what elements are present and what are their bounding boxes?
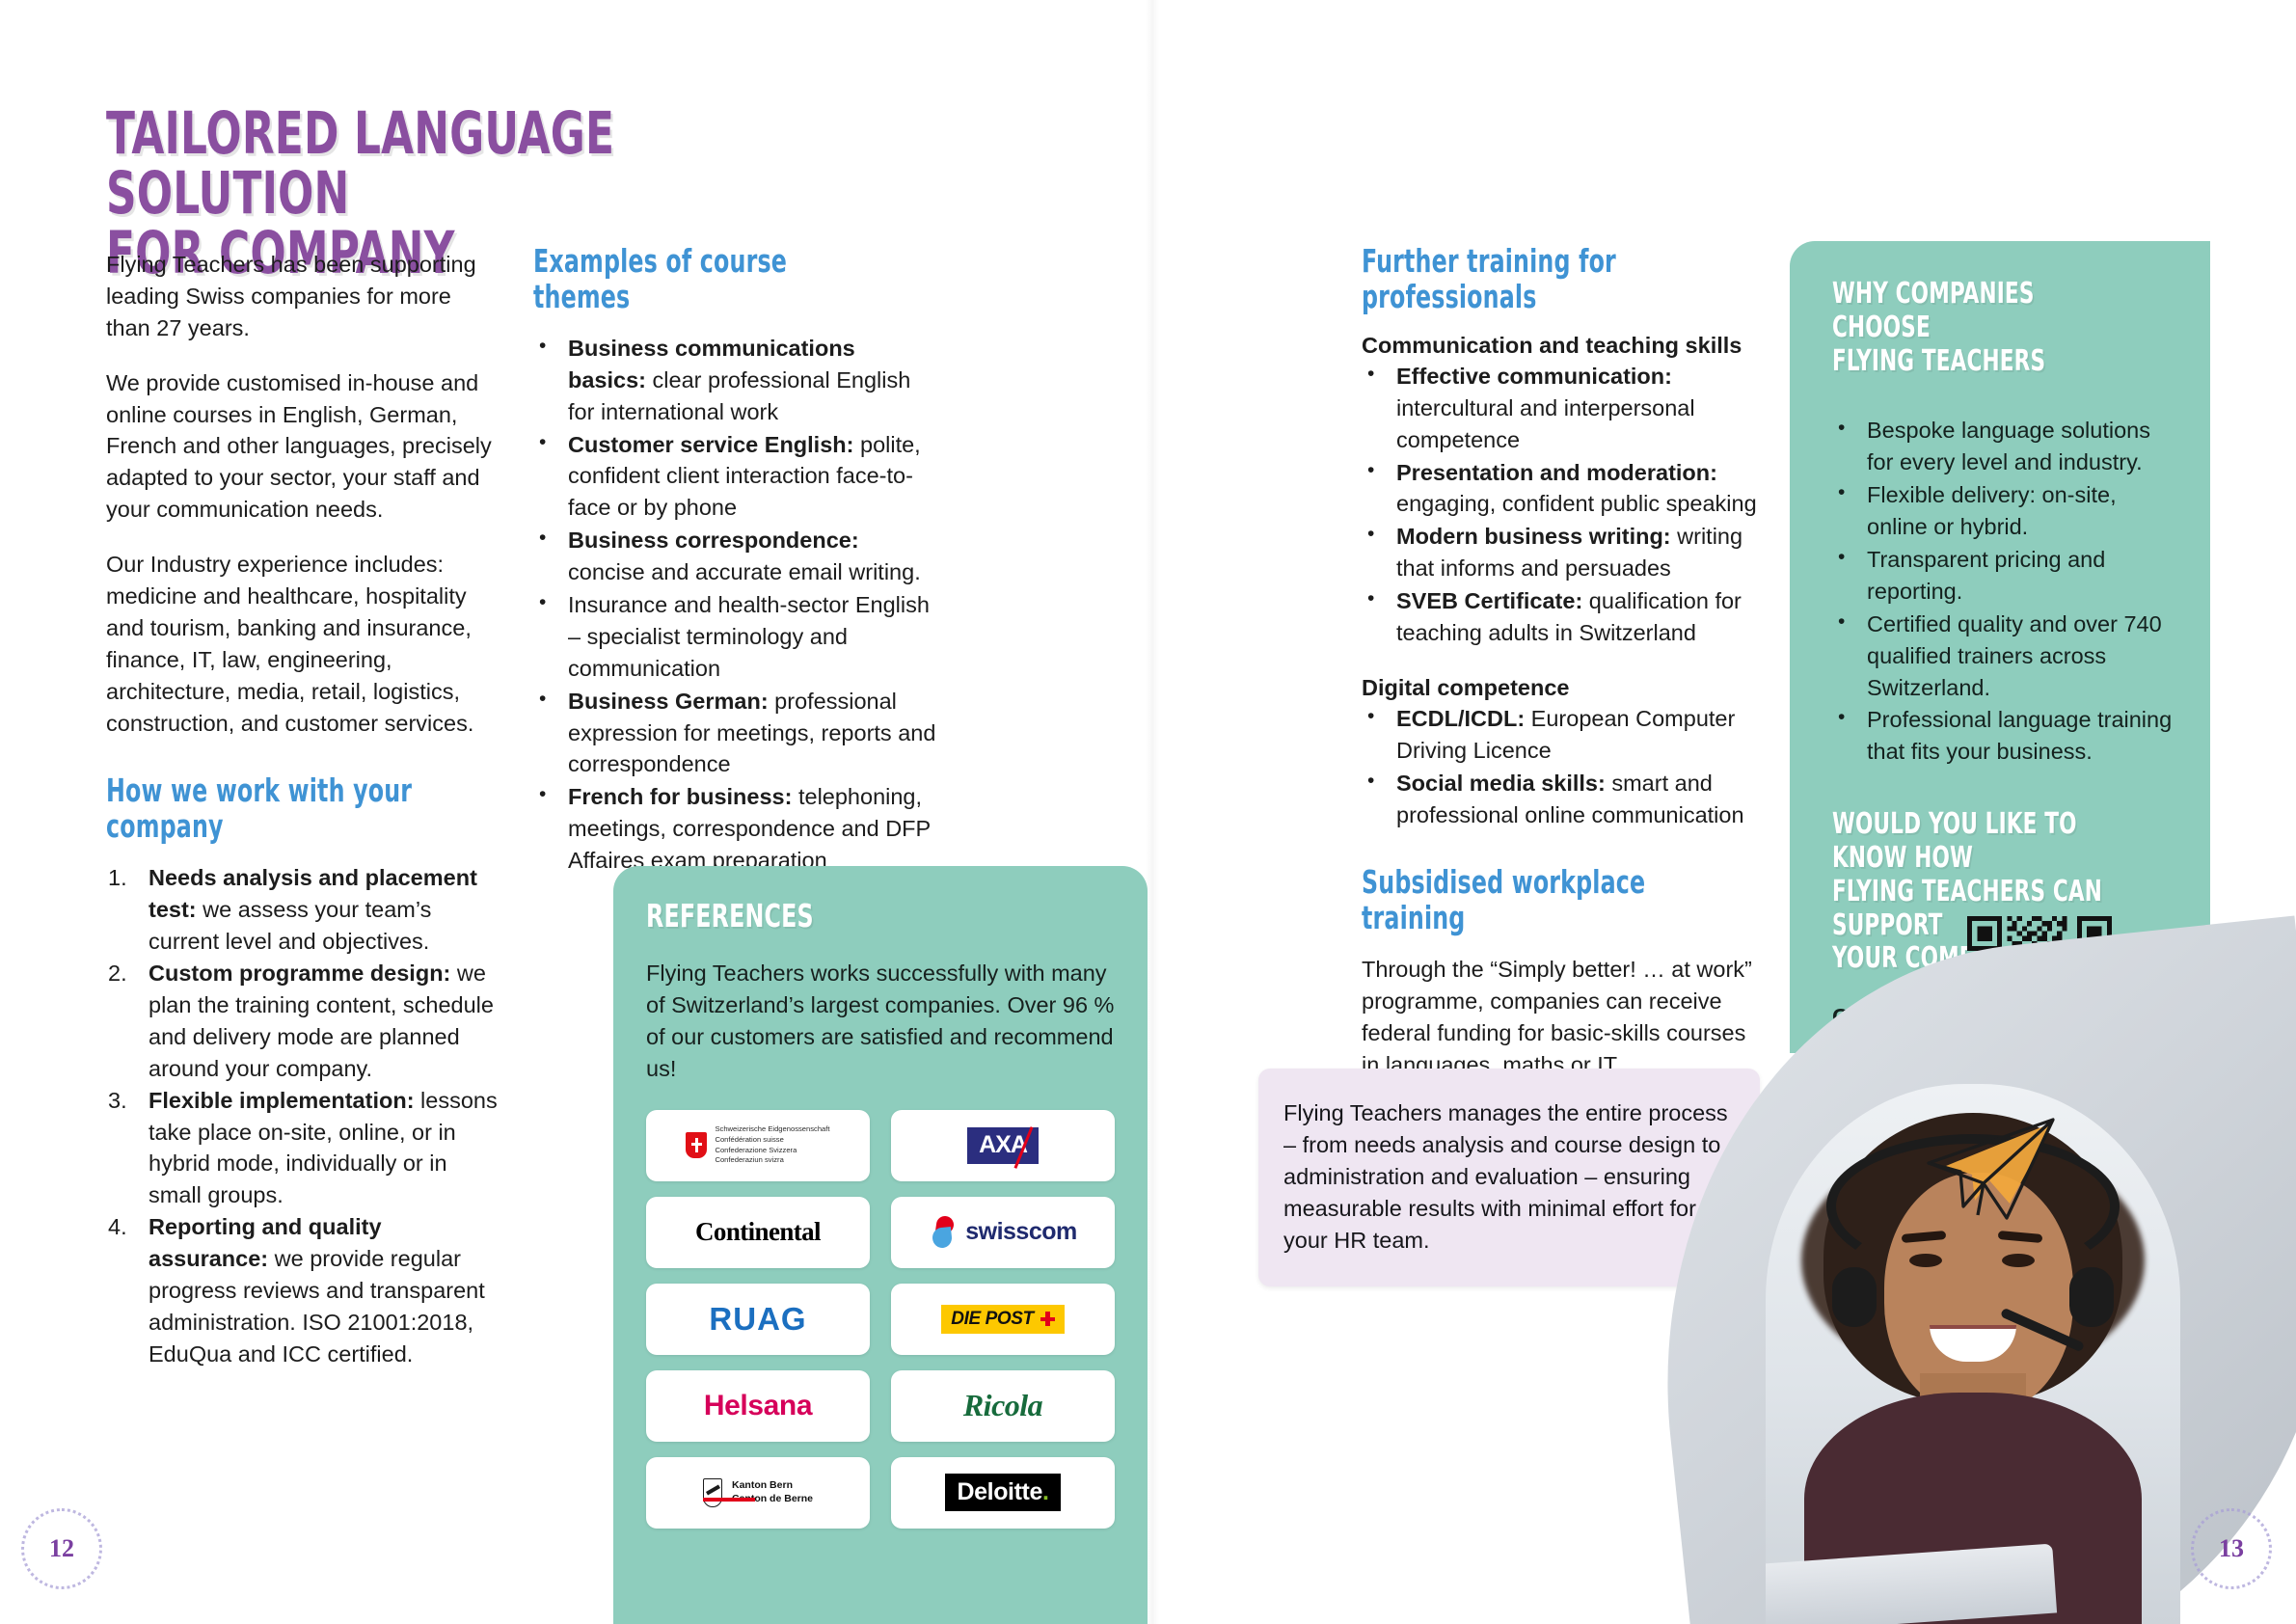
list-item: ECDL/ICDL: European Computer Driving Lic… (1362, 703, 1767, 767)
list-item: Business communications basics: clear pr… (533, 333, 938, 428)
bullet-title: Business correspondence: (568, 528, 859, 553)
list-item: Presentation and moderation: engaging, c… (1362, 457, 1767, 521)
bullet-text: concise and accurate email writing. (568, 559, 921, 584)
bullet-text: engaging, confident public speaking (1396, 491, 1757, 516)
logo-label: Kanton Bern Canton de Berne (732, 1479, 813, 1506)
bullet-title: Presentation and moderation: (1396, 460, 1717, 485)
list-item: Flexible delivery: on-site, online or hy… (1832, 479, 2177, 543)
list-item: Needs analysis and placement test: we as… (106, 862, 500, 958)
logo-die-post: DIE POST (891, 1284, 1115, 1355)
references-panel: REFERENCES Flying Teachers works success… (613, 866, 1148, 1624)
digital-competence-list: ECDL/ICDL: European Computer Driving Lic… (1362, 703, 1767, 831)
communication-skills-list: Effective communication: intercultural a… (1362, 361, 1767, 649)
logo-kanton-bern: Kanton Bern Canton de Berne (646, 1457, 870, 1529)
why-box-list: Bespoke language solutions for every lev… (1832, 415, 2177, 768)
bern-crest-icon (703, 1478, 722, 1507)
course-themes-heading: Examples of course themes (533, 244, 857, 315)
logo-label: Deloitte (957, 1478, 1041, 1505)
list-item: Business correspondence: concise and acc… (533, 525, 938, 588)
paper-plane-icon (1920, 1114, 2065, 1230)
bern-red-bar (703, 1498, 755, 1502)
bullet-title: Customer service English: (568, 432, 853, 457)
communication-skills-title: Communication and teaching skills (1362, 333, 1767, 359)
step-title: Custom programme design: (149, 961, 450, 986)
references-logo-grid: Schweizerische Eidgenossenschaft Confédé… (646, 1110, 1115, 1529)
logo-label: Ricola (963, 1388, 1042, 1423)
logo-helsana: Helsana (646, 1370, 870, 1442)
page-spine-shadow (1146, 0, 1159, 1624)
intro-paragraph-2: We provide customised in-house and onlin… (106, 367, 500, 526)
bullet-title: ECDL/ICDL: (1396, 706, 1525, 731)
list-item: Reporting and quality assurance: we prov… (106, 1211, 500, 1369)
list-item: Business German: professional expression… (533, 686, 938, 781)
list-item: Customer service English: polite, confid… (533, 429, 938, 525)
column-intro: Flying Teachers has been supporting lead… (106, 249, 500, 1370)
list-item: SVEB Certificate: qualification for teac… (1362, 585, 1767, 649)
logo-label: Helsana (704, 1390, 812, 1422)
bullet-title: French for business: (568, 784, 792, 809)
how-we-work-steps: Needs analysis and placement test: we as… (106, 862, 500, 1369)
further-training-heading: Further training for professionals (1362, 244, 1686, 315)
digital-competence-title: Digital competence (1362, 675, 1767, 701)
bullet-title: Social media skills: (1396, 771, 1606, 796)
bullet-text: Insurance and health-sector English – sp… (568, 592, 930, 681)
list-item: Flexible implementation: lessons take pl… (106, 1085, 500, 1212)
page-number-value: 12 (49, 1534, 74, 1563)
logo-label: RUAG (709, 1301, 806, 1338)
logo-label: DIE POST (951, 1309, 1033, 1330)
bullet-text: intercultural and interpersonal competen… (1396, 395, 1695, 452)
post-cross-icon (1040, 1312, 1055, 1326)
course-themes-list: Business communications basics: clear pr… (533, 333, 938, 877)
deloitte-dot: . (1042, 1478, 1049, 1505)
bullet-title: SVEB Certificate: (1396, 588, 1582, 613)
intro-paragraph-1: Flying Teachers has been supporting lead… (106, 249, 500, 344)
how-we-work-heading: How we work with your company (106, 773, 420, 845)
list-item: Transparent pricing and reporting. (1832, 544, 2177, 608)
bullet-title: Effective communication: (1396, 364, 1672, 389)
logo-deloitte: Deloitte. (891, 1457, 1115, 1529)
list-item: Bespoke language solutions for every lev… (1832, 415, 2177, 478)
swisscom-lifeform-icon (929, 1216, 958, 1249)
why-box-title: WHY COMPANIES CHOOSE FLYING TEACHERS (1832, 278, 2108, 378)
bullet-title: Business German: (568, 689, 769, 714)
step-title: Flexible implementation: (149, 1088, 415, 1113)
logo-label: Schweizerische Eidgenossenschaft Confédé… (715, 1124, 829, 1166)
page-number-right: 13 (2191, 1508, 2272, 1589)
logo-axa: AXA (891, 1110, 1115, 1181)
logo-label: swisscom (965, 1218, 1077, 1246)
list-item: Effective communication: intercultural a… (1362, 361, 1767, 456)
intro-paragraph-3: Our Industry experience includes: medici… (106, 549, 500, 739)
swiss-cross-icon (686, 1132, 707, 1158)
column-course-themes: Examples of course themes Business commu… (533, 244, 938, 878)
logo-label: Continental (695, 1217, 821, 1247)
list-item: Insurance and health-sector English – sp… (533, 589, 938, 685)
references-title: REFERENCES (646, 897, 1021, 934)
logo-ricola: Ricola (891, 1370, 1115, 1442)
page-number-left: 12 (21, 1508, 102, 1589)
list-item: Professional language training that fits… (1832, 704, 2177, 768)
list-item: Custom programme design: we plan the tra… (106, 958, 500, 1085)
bullet-title: Modern business writing: (1396, 524, 1671, 549)
logo-continental: Continental (646, 1197, 870, 1268)
list-item: Social media skills: smart and professio… (1362, 768, 1767, 831)
list-item: Modern business writing: writing that in… (1362, 521, 1767, 584)
logo-swisscom: swisscom (891, 1197, 1115, 1268)
logo-ruag: RUAG (646, 1284, 870, 1355)
brochure-spread: TAILORED LANGUAGE SOLUTION FOR COMPANY F… (0, 0, 2296, 1624)
logo-swiss-confederation: Schweizerische Eidgenossenschaft Confédé… (646, 1110, 870, 1181)
intro-paragraphs: Flying Teachers has been supporting lead… (106, 249, 500, 739)
page-number-value: 13 (2219, 1534, 2244, 1563)
list-item: Certified quality and over 740 qualified… (1832, 609, 2177, 704)
photo-composition (1544, 910, 2296, 1624)
references-body: Flying Teachers works successfully with … (646, 958, 1115, 1085)
list-item: French for business: telephoning, meetin… (533, 781, 938, 877)
